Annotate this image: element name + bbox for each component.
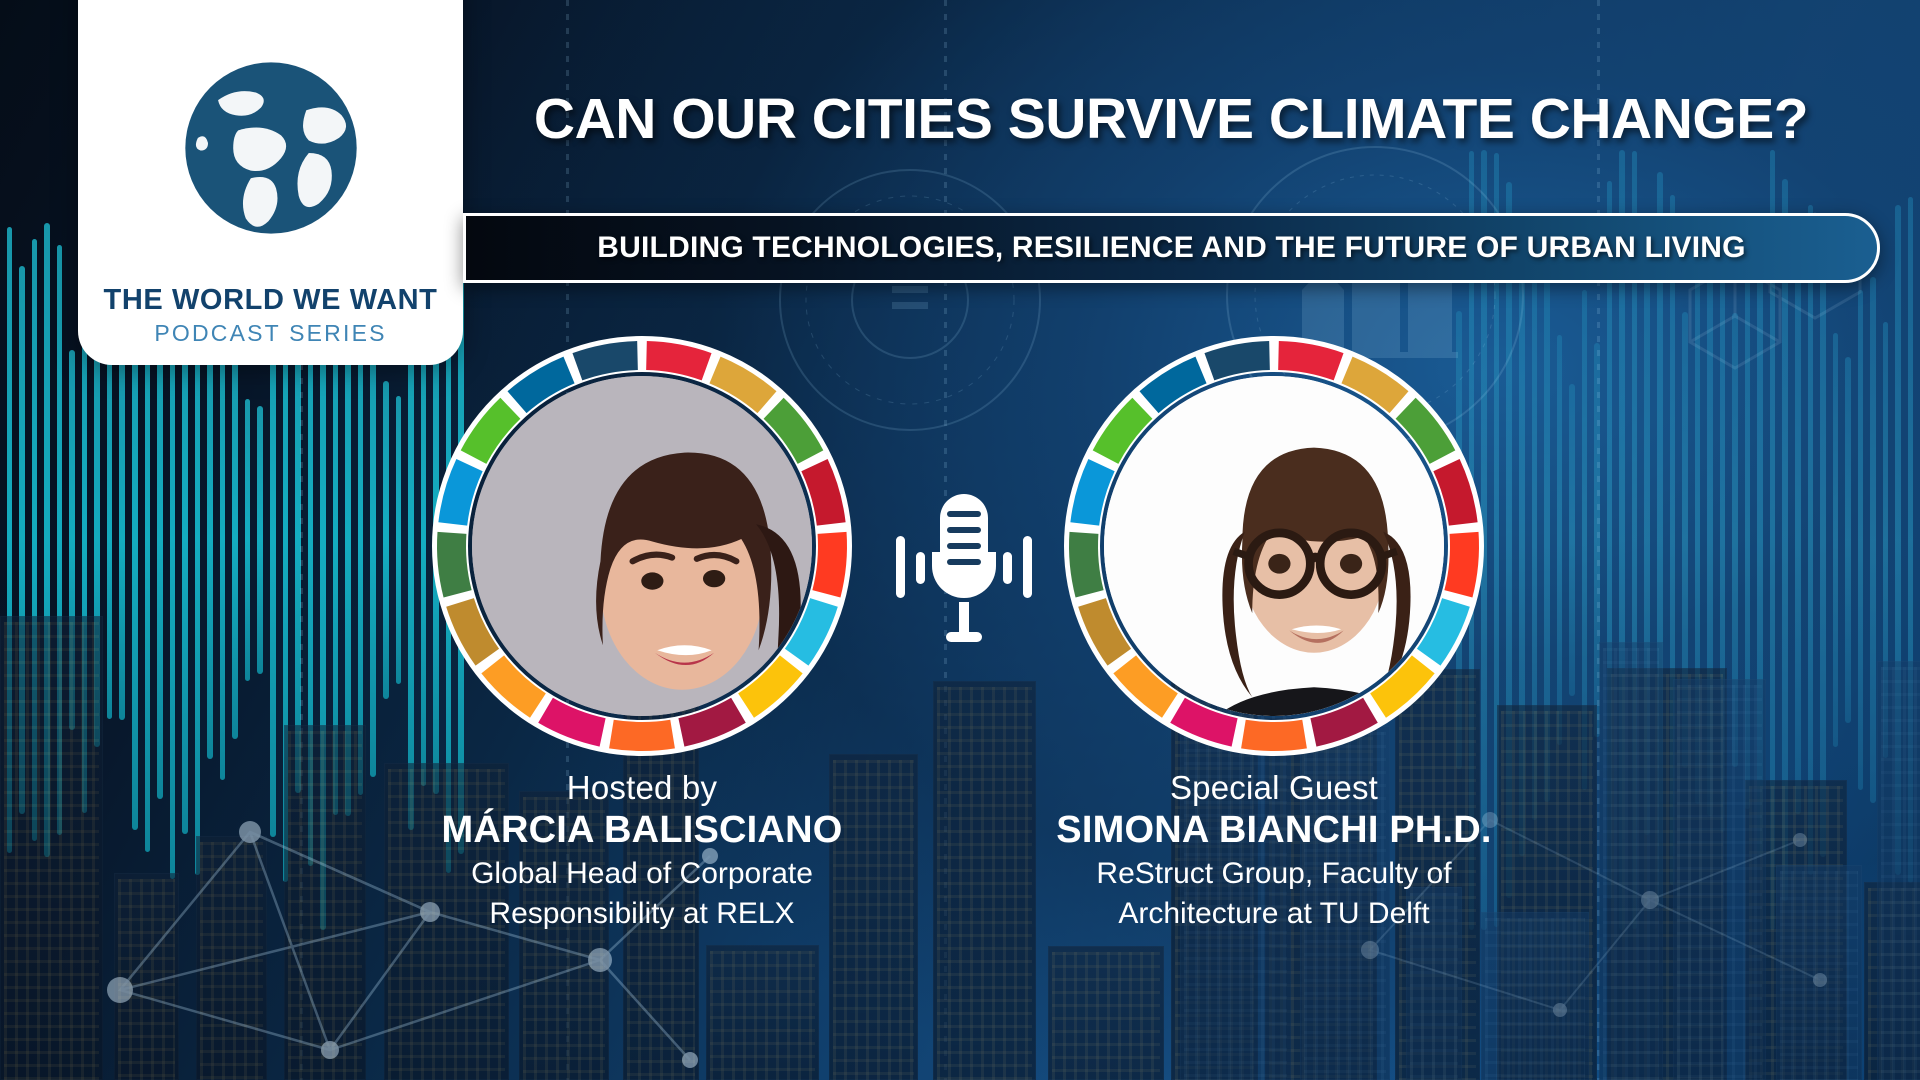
speaker-org-line-1: Global Head of Corporate xyxy=(362,857,922,892)
subtitle-text: BUILDING TECHNOLOGIES, RESILIENCE AND TH… xyxy=(597,231,1745,265)
speaker-org-line-2: Responsibility at RELX xyxy=(362,897,922,932)
speaker-role: Hosted by xyxy=(362,770,922,806)
speaker-credit: Hosted by MÁRCIA BALISCIANO Global Head … xyxy=(362,770,922,932)
avatar-ring-host xyxy=(432,336,852,756)
speaker-card-host: Hosted by MÁRCIA BALISCIANO Global Head … xyxy=(362,336,922,932)
sdg-globe-icon xyxy=(145,22,397,274)
speaker-role: Special Guest xyxy=(994,770,1554,806)
avatar xyxy=(1104,376,1444,716)
dotted-rule xyxy=(1597,0,1600,1080)
speaker-credit: Special Guest SIMONA BIANCHI PH.D. ReStr… xyxy=(994,770,1554,932)
podcast-episode-banner: THE WORLD WE WANT PODCAST SERIES CAN OUR… xyxy=(0,0,1920,1080)
speaker-card-guest: Special Guest SIMONA BIANCHI PH.D. ReStr… xyxy=(994,336,1554,932)
avatar xyxy=(472,376,812,716)
subtitle-banner: BUILDING TECHNOLOGIES, RESILIENCE AND TH… xyxy=(463,213,1880,283)
podcast-logo-card: THE WORLD WE WANT PODCAST SERIES xyxy=(78,0,463,365)
speaker-org-line-1: ReStruct Group, Faculty of xyxy=(994,857,1554,892)
speaker-org-line-2: Architecture at TU Delft xyxy=(994,897,1554,932)
speaker-name: SIMONA BIANCHI PH.D. xyxy=(994,810,1554,851)
logo-title: THE WORLD WE WANT xyxy=(104,284,438,317)
speaker-name: MÁRCIA BALISCIANO xyxy=(362,810,922,851)
avatar-ring-guest xyxy=(1064,336,1484,756)
page-title: CAN OUR CITIES SURVIVE CLIMATE CHANGE? xyxy=(470,86,1872,152)
logo-subtitle: PODCAST SERIES xyxy=(154,320,386,347)
